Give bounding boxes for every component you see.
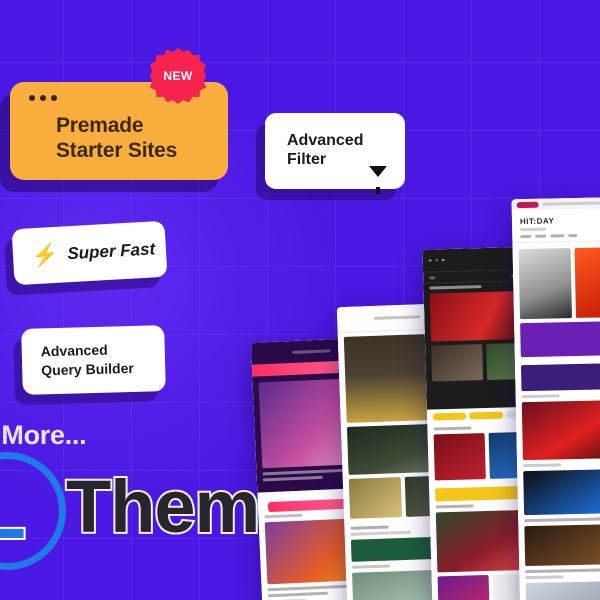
card-advanced-query-builder[interactable]: Advanced Query Builder xyxy=(21,325,166,395)
new-badge: NEW xyxy=(150,48,206,104)
mockup-hitoday[interactable]: HIT:DAY xyxy=(512,197,600,600)
card-advanced-query-builder-title: Advanced Query Builder xyxy=(41,340,135,380)
card-advanced-filter[interactable]: Advanced Filter xyxy=(265,113,405,189)
lightning-bolt-icon: ⚡ xyxy=(30,244,59,267)
new-badge-label: NEW xyxy=(163,69,192,83)
funnel-filter-icon xyxy=(369,166,387,177)
tagline-much-more: h More... xyxy=(0,420,86,451)
card-advanced-filter-title: Advanced Filter xyxy=(287,131,363,169)
wordmark-text: Them xyxy=(66,470,259,544)
card-super-fast-title: Super Fast xyxy=(67,239,156,264)
card-premade-title: Premade Starter Sites xyxy=(56,114,177,164)
card-super-fast[interactable]: ⚡ Super Fast xyxy=(12,221,168,285)
promo-banner: HIT:DAY xyxy=(0,0,600,600)
window-dots-icon xyxy=(29,95,57,101)
logo-letter: L xyxy=(0,470,26,552)
